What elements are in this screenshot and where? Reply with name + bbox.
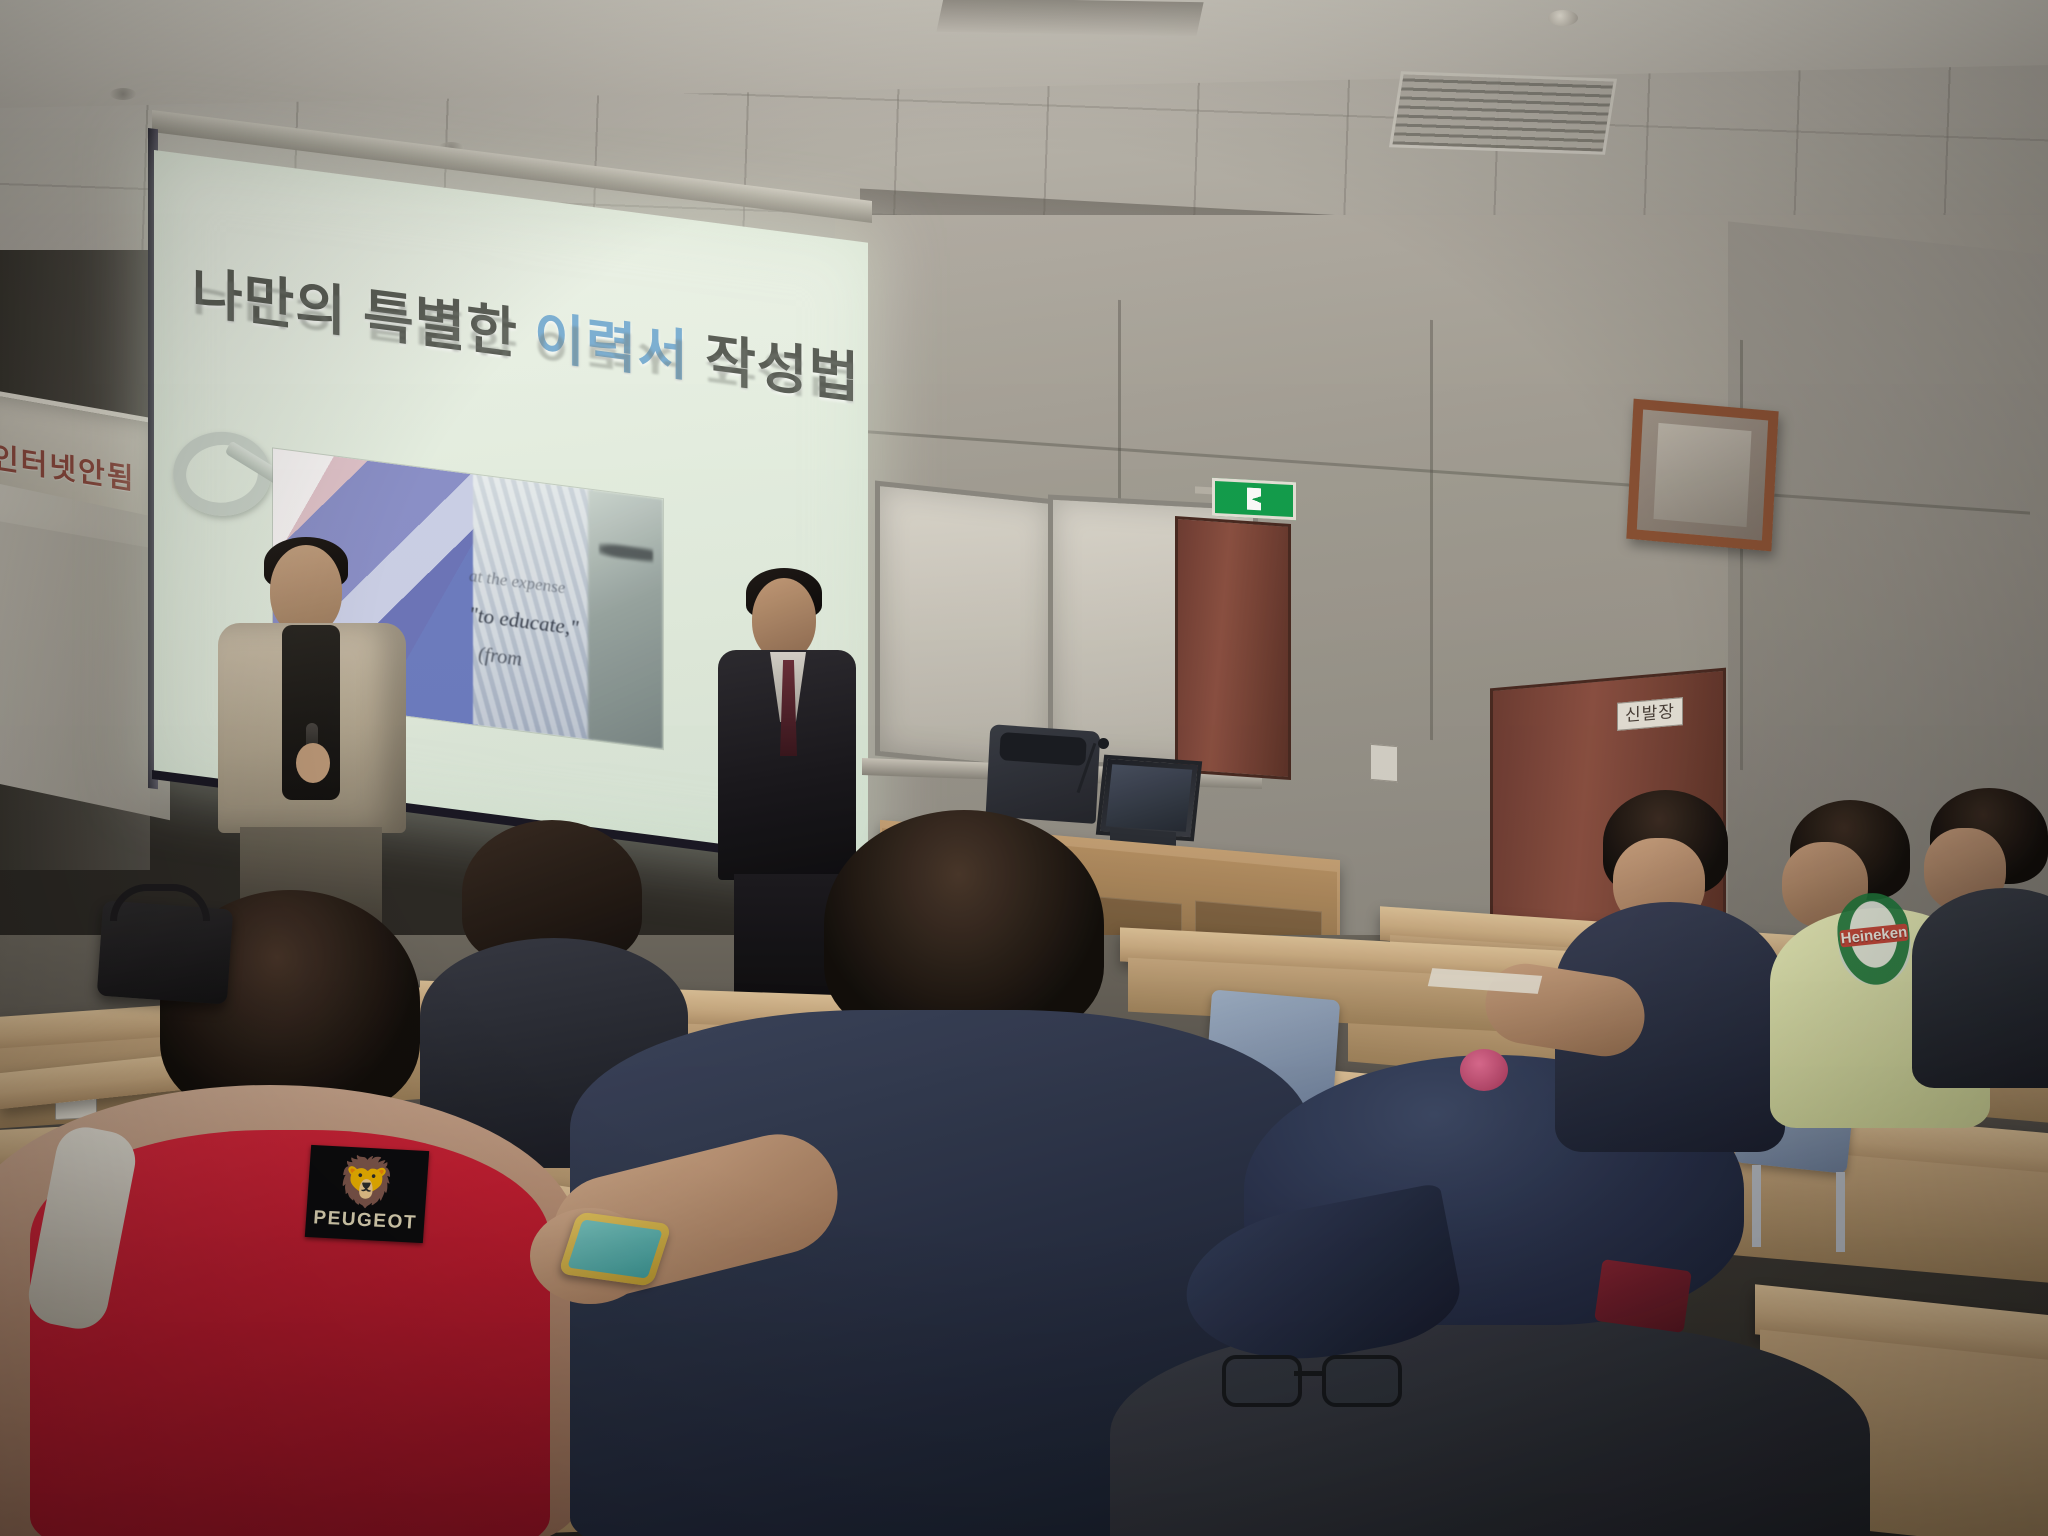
cap-button-icon [1460,1049,1508,1091]
wall-seam [1740,340,1743,770]
peugeot-logo-patch: 🦁 PEUGEOT [305,1145,429,1243]
emergency-exit-sign [1212,478,1296,520]
office-chair-headrest [999,732,1086,766]
presenter-head [270,545,342,635]
light-switch[interactable] [1370,744,1398,782]
cap-patch [1594,1259,1692,1333]
slide-photo-person [588,489,663,749]
peugeot-lion-icon: 🦁 [335,1154,397,1213]
ceiling-vent-icon [1389,71,1617,155]
smartphone-screen [567,1219,663,1278]
wall-seam [1430,320,1433,740]
eyeglass-lens-right [1322,1355,1402,1407]
smartphone[interactable] [558,1211,672,1286]
presenter-hand [296,743,330,783]
ceiling-duct-icon [936,0,1203,36]
framed-picture [1626,399,1778,552]
shoe-cabinet-label: 신발장 [1617,697,1683,731]
door-left[interactable] [1175,516,1291,780]
eyeglass-bridge [1294,1371,1322,1376]
sprinkler-icon [110,88,136,100]
eyeglass-lens-left [1222,1355,1302,1407]
cap-brim [1174,1183,1468,1382]
eyeglasses-icon [1222,1355,1402,1403]
framed-picture-canvas [1653,423,1751,527]
running-man-icon [1247,488,1261,511]
microphone-icon [1098,738,1109,749]
left-whiteboard [0,480,170,820]
person-student-back-right [1912,788,2048,1078]
lecture-room-photo: 인터넷안됨 나만의 특별한 이력서 작성법 나만의 특별한 이력서 작성법 at… [0,0,2048,1536]
smoke-detector-icon [1548,10,1578,26]
student-hair [824,810,1104,1040]
suitman-head [752,578,816,660]
peugeot-wordmark: PEUGEOT [305,1207,425,1235]
student-torso [1912,888,2048,1088]
person-student-right-navy [1555,790,1785,1150]
